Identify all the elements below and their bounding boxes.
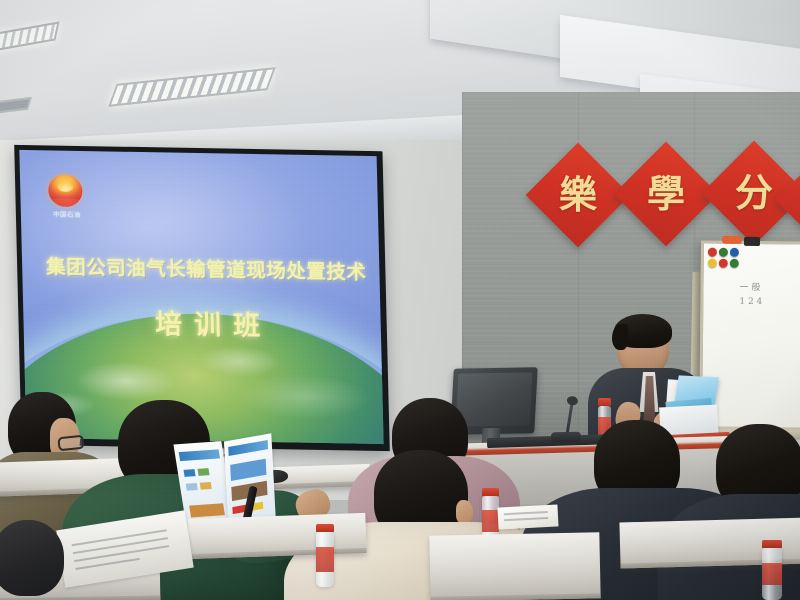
logo-caption: 中国石油 xyxy=(47,208,87,219)
water-bottle xyxy=(762,548,782,600)
paper-text-line xyxy=(504,517,548,521)
conference-room-photo: 樂 學 分 享 中国石油 集团公司油气长输管道现场处置技术 培训班 xyxy=(0,0,800,600)
recessed-ceiling-light xyxy=(0,97,32,115)
recessed-ceiling-light xyxy=(0,21,59,52)
classroom-desk xyxy=(187,513,366,559)
sun-icon xyxy=(48,174,83,207)
brochure-swatch xyxy=(197,468,209,476)
bottle-cap xyxy=(482,488,499,496)
cnpc-sun-logo: 中国石油 xyxy=(46,174,87,221)
magnet-red xyxy=(708,248,717,257)
attendee-head xyxy=(0,520,64,596)
magnet-red xyxy=(719,259,728,268)
brochure-swatch xyxy=(200,482,212,490)
magnet-yellow xyxy=(708,259,717,268)
recessed-ceiling-light xyxy=(108,67,275,107)
whiteboard-magnets xyxy=(708,248,739,268)
slide-title: 集团公司油气长输管道现场处置技术 xyxy=(32,250,381,285)
paper-text-line xyxy=(504,511,548,515)
attendee-corner xyxy=(0,520,100,600)
water-bottle xyxy=(316,532,334,587)
banner-character: 學 xyxy=(647,175,685,213)
brochure-header-band xyxy=(228,440,268,456)
brochure-swatch xyxy=(186,483,198,491)
brochure-swatch xyxy=(184,469,196,477)
whiteboard-writing-line-2: 1 2 4 xyxy=(739,296,797,310)
presenter-hair-side xyxy=(612,324,628,350)
bottle-label xyxy=(482,510,499,532)
slide-subtitle: 培训班 xyxy=(33,300,382,345)
magnet-green xyxy=(719,248,728,257)
magnet-green xyxy=(730,259,739,268)
bottle-label xyxy=(316,547,334,571)
brochure-header-band xyxy=(179,449,220,461)
bottle-cap xyxy=(762,540,782,548)
attendee-ear xyxy=(456,500,473,524)
bottle-label xyxy=(762,563,782,586)
whiteboard-writing-line-1: 一 般 xyxy=(739,282,797,296)
magnet-blue xyxy=(730,248,739,257)
brochure-photo xyxy=(230,459,266,481)
classroom-desk xyxy=(429,532,600,600)
bottle-cap xyxy=(316,524,334,532)
banner-character: 樂 xyxy=(559,176,597,214)
papers-on-desk xyxy=(497,504,558,529)
brochure-photo xyxy=(189,503,225,517)
bottle-cap xyxy=(598,398,611,406)
whiteboard-clip xyxy=(744,237,760,246)
banner-character: 分 xyxy=(735,174,773,212)
whiteboard-clip-orange xyxy=(722,236,742,244)
attendee-dark-suit-2 xyxy=(690,424,800,600)
